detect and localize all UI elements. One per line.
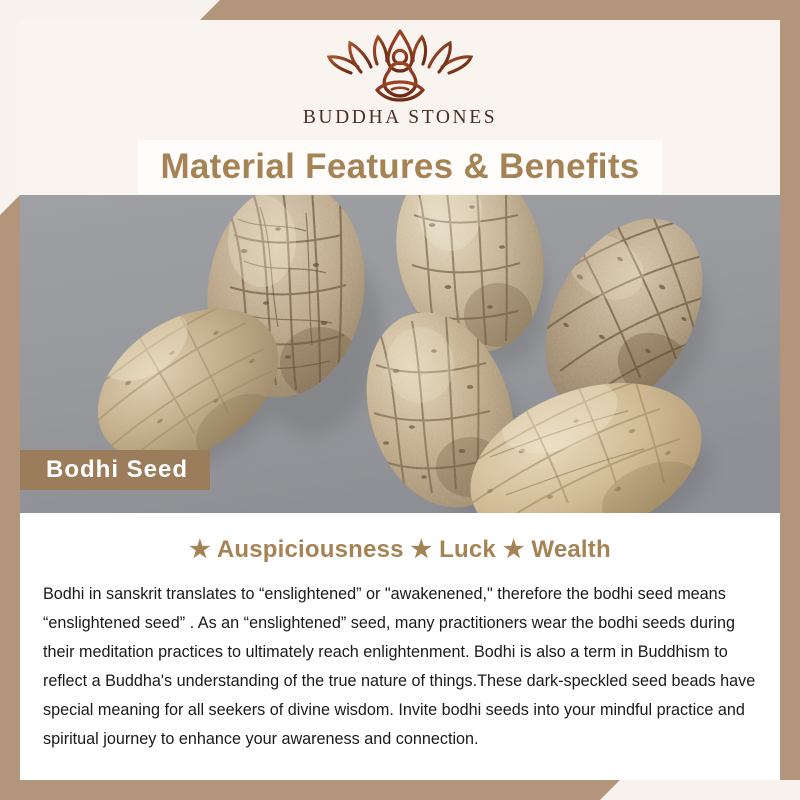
benefits-headline: ★ Auspiciousness ★ Luck ★ Wealth (20, 513, 780, 564)
material-name-tag: Bodhi Seed (20, 450, 210, 490)
lotus-meditation-figure-icon (311, 26, 489, 104)
page-title: Material Features & Benefits (160, 147, 639, 187)
brand-name: BUDDHA STONES (303, 107, 497, 129)
brand-logo-area: BUDDHA STONES (20, 20, 780, 138)
poster-inner-canvas: BUDDHA STONES Material Features & Benefi… (20, 20, 780, 780)
description-text: Bodhi in sanskrit translates to “ensligh… (20, 564, 780, 754)
description-section: ★ Auspiciousness ★ Luck ★ Wealth Bodhi i… (20, 513, 780, 780)
material-name-label: Bodhi Seed (20, 456, 188, 484)
frame-band-left (0, 195, 20, 800)
frame-band-top (200, 0, 800, 20)
material-features-poster: BUDDHA STONES Material Features & Benefi… (0, 0, 800, 800)
frame-band-right (780, 0, 800, 780)
frame-band-bottom (0, 780, 620, 800)
title-banner: Material Features & Benefits (138, 140, 662, 194)
